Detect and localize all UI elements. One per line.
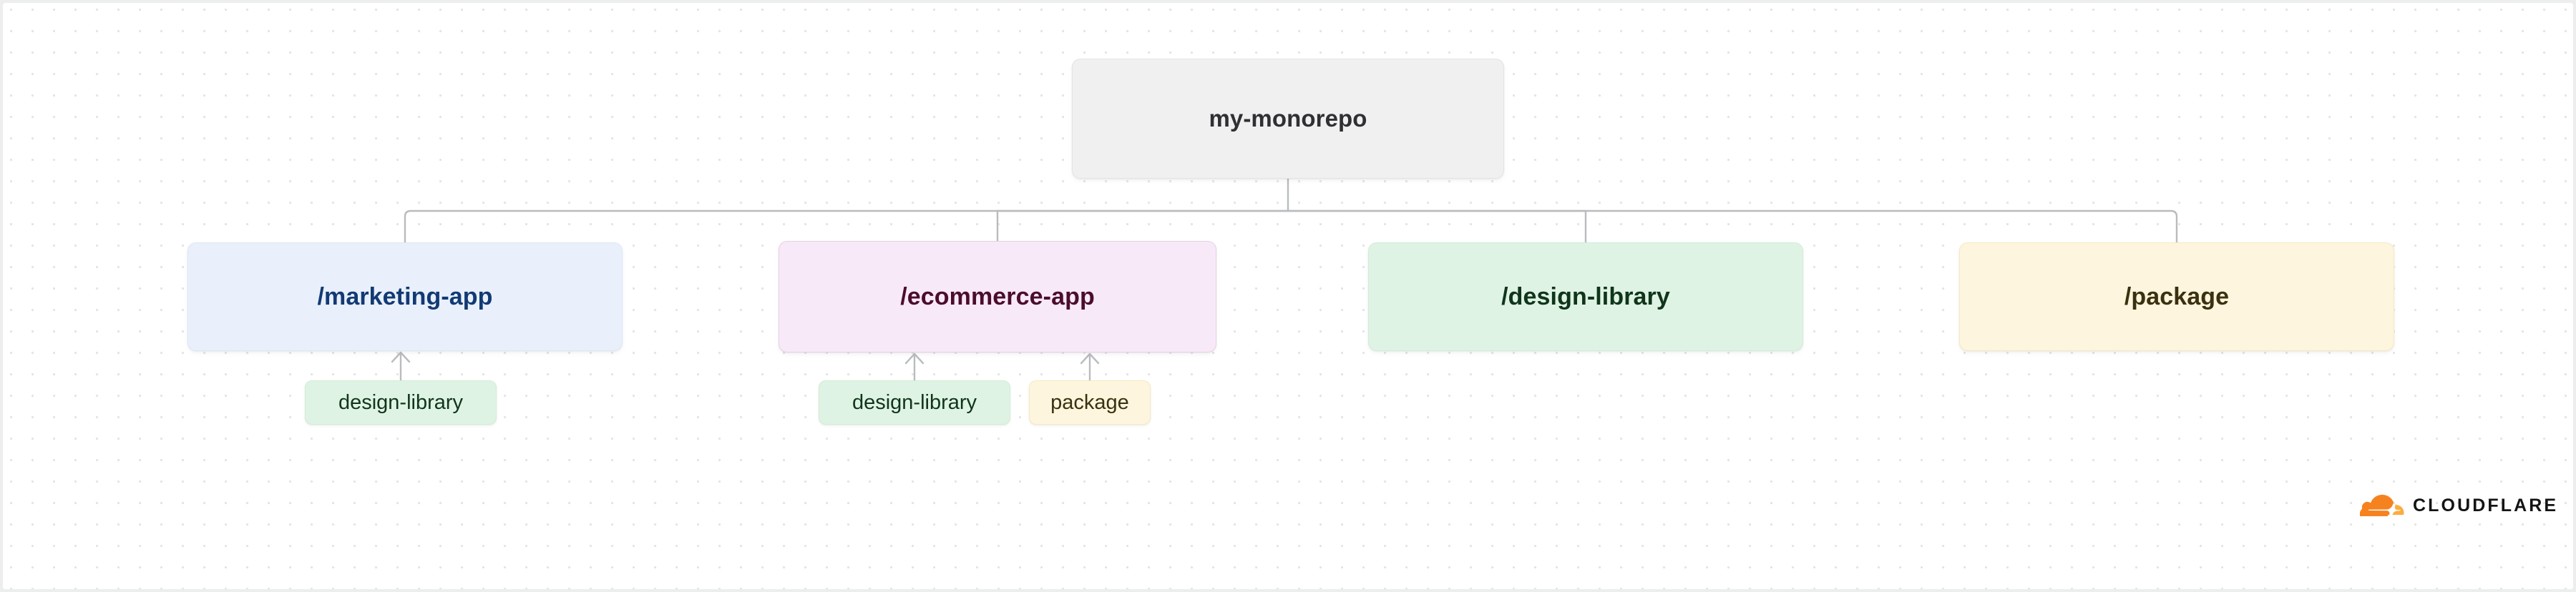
dependency-pill-ecommerce-package[interactable]: package — [1029, 380, 1151, 425]
cloudflare-cloud-icon — [2360, 495, 2404, 516]
dependency-pill-ecommerce-design-library[interactable]: design-library — [819, 380, 1010, 425]
diagram-canvas: my-monorepo /marketing-app /ecommerce-ap… — [3, 3, 2573, 589]
cloudflare-wordmark: CLOUDFLARE — [2413, 497, 2558, 515]
node-design-library[interactable]: /design-library — [1368, 242, 1803, 351]
node-ecommerce-app[interactable]: /ecommerce-app — [779, 241, 1216, 352]
wire-bus-to-design — [1288, 211, 1586, 242]
node-marketing-app[interactable]: /marketing-app — [187, 242, 623, 351]
arrowhead-ecommerce-package — [1081, 354, 1098, 363]
node-my-monorepo[interactable]: my-monorepo — [1072, 59, 1504, 179]
dependency-pill-marketing-design-library[interactable]: design-library — [305, 380, 497, 425]
wire-bus-to-ecommerce — [997, 211, 1288, 241]
wire-bus-to-marketing — [405, 211, 1288, 242]
arrowhead-ecommerce-designlibrary — [906, 354, 923, 363]
wire-bus-to-package — [1288, 211, 2177, 242]
node-package[interactable]: /package — [1959, 242, 2394, 351]
arrowhead-marketing-designlibrary — [392, 352, 409, 362]
cloudflare-logo: CLOUDFLARE — [2360, 495, 2558, 516]
